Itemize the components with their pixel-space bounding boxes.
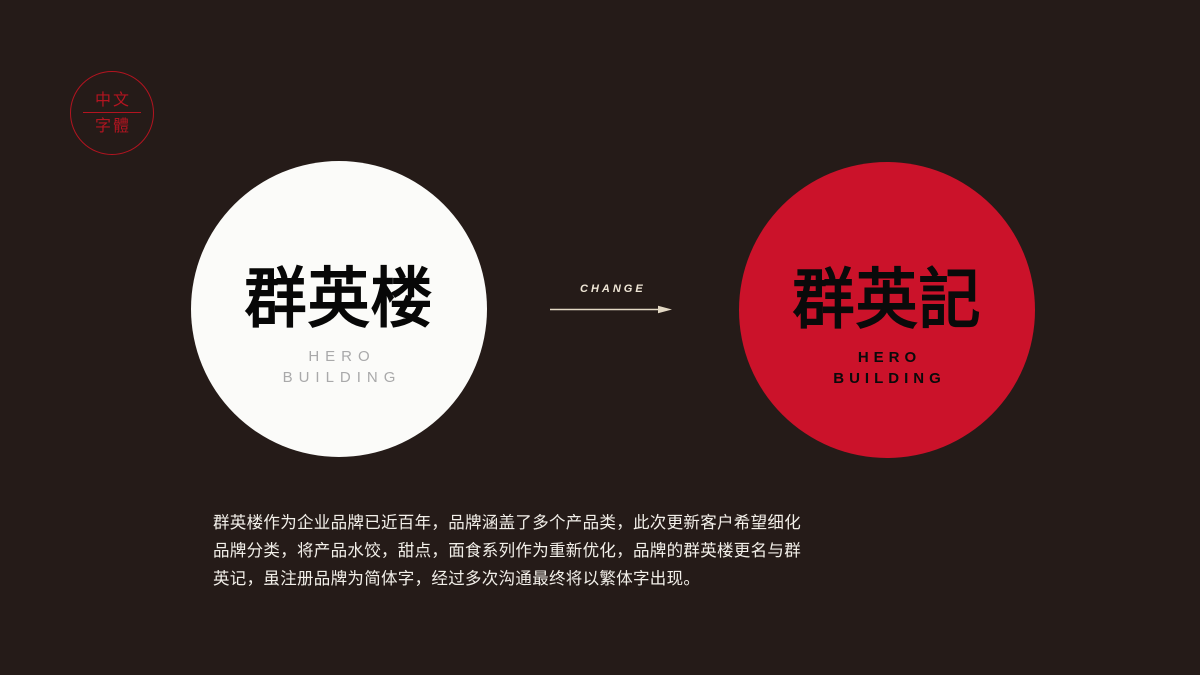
logo-before-latin-name: HERO BUILDING — [277, 346, 402, 388]
description-line-2: 品牌分类，将产品水饺，甜点，面食系列作为重新优化，品牌的群英楼更名与群 — [213, 537, 873, 565]
stamp-top-label: 中文 — [93, 90, 131, 110]
logo-before-latin-line2: BUILDING — [277, 367, 402, 388]
logo-before-circle: 群英楼 HERO BUILDING — [191, 161, 487, 457]
logo-before-latin-line1: HERO — [277, 346, 402, 367]
description-line-3: 英记，虽注册品牌为简体字，经过多次沟通最终将以繁体字出现。 — [213, 565, 873, 593]
slide-canvas: 中文 字體 群英楼 HERO BUILDING CHANGE 群英記 HERO … — [0, 0, 1200, 675]
logo-after-circle: 群英記 HERO BUILDING — [739, 162, 1035, 458]
change-transition: CHANGE — [550, 283, 675, 323]
logo-after-latin-name: HERO BUILDING — [828, 347, 946, 389]
logo-after-latin-line2: BUILDING — [828, 368, 946, 389]
logo-after-chinese-name: 群英記 — [792, 265, 981, 334]
description-line-1: 群英楼作为企业品牌已近百年，品牌涵盖了多个产品类，此次更新客户希望细化 — [213, 509, 873, 537]
logo-after-latin-line1: HERO — [828, 347, 946, 368]
logo-before-chinese-name: 群英楼 — [244, 264, 433, 333]
arrow-right-icon — [550, 305, 672, 314]
change-label: CHANGE — [577, 283, 646, 295]
project-description: 群英楼作为企业品牌已近百年，品牌涵盖了多个产品类，此次更新客户希望细化 品牌分类… — [213, 509, 873, 593]
chinese-typeface-stamp: 中文 字體 — [70, 71, 154, 155]
stamp-divider — [83, 112, 141, 114]
stamp-bottom-label: 字體 — [93, 116, 131, 136]
